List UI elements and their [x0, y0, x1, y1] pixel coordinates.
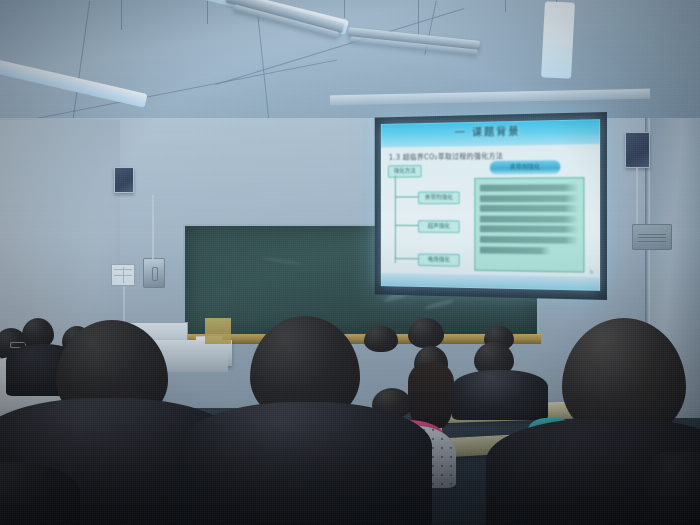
tree-child-node-1: 夹带剂强化 [418, 192, 460, 205]
audience-body-center-right [452, 370, 548, 420]
projection-screen: 一 课题背景 1.3 超临界CO₂萃取过程的强化方法 强化方法 夹带剂强化 超声… [375, 112, 607, 300]
speaker-right [625, 132, 650, 168]
speaker-left [114, 167, 134, 193]
slide-subtitle: 1.3 超临界CO₂萃取过程的强化方法 [389, 151, 503, 163]
audience-head-back-2 [364, 326, 398, 352]
tree-child-node-2: 超声强化 [418, 220, 460, 233]
wall-conduit-left [152, 195, 154, 259]
slide-body-textbox [474, 177, 584, 272]
slide-body-line [480, 246, 551, 254]
light-hanger-3 [344, 0, 345, 18]
slide-footer-band [381, 273, 600, 291]
audience-jacket-foreground-center [180, 402, 432, 525]
vent-right [632, 224, 672, 250]
slide-body-line [480, 215, 579, 222]
slide-page-number: 5 [590, 270, 593, 276]
light-hanger-2 [207, 0, 208, 24]
slide-body-line [480, 195, 579, 202]
electrical-box-latch [152, 267, 158, 280]
slide-tree-diagram: 强化方法 夹带剂强化 超声强化 电场强化 [388, 165, 465, 271]
slide-body-line [480, 236, 579, 244]
switch-plate-left [111, 264, 135, 286]
audience-body-edge-right [640, 452, 700, 525]
audience-hair-longhair-right [408, 362, 454, 428]
light-hanger-1 [121, 0, 122, 30]
electrical-box-left [143, 258, 165, 288]
wall-conduit-right [636, 168, 638, 224]
wall-tube-right [541, 1, 575, 78]
audience-head-back-3 [408, 318, 444, 348]
light-hanger-4 [418, 0, 419, 36]
slide-body-line [480, 184, 579, 191]
light-hanger-5 [505, 0, 506, 12]
slide-body-line [480, 226, 579, 233]
slide-body-line [480, 205, 579, 212]
lecture-hall-photo: 一 课题背景 1.3 超临界CO₂萃取过程的强化方法 强化方法 夹带剂强化 超声… [0, 0, 700, 525]
tree-child-node-3: 电场强化 [418, 254, 460, 267]
wall-conduit-left-2 [123, 286, 125, 326]
slide-highlight-pill: 夹带剂强化 [489, 160, 561, 175]
projected-slide: 一 课题背景 1.3 超临界CO₂萃取过程的强化方法 强化方法 夹带剂强化 超声… [381, 119, 600, 291]
tree-root-node: 强化方法 [388, 165, 422, 178]
teacher-chair-back [205, 318, 231, 344]
